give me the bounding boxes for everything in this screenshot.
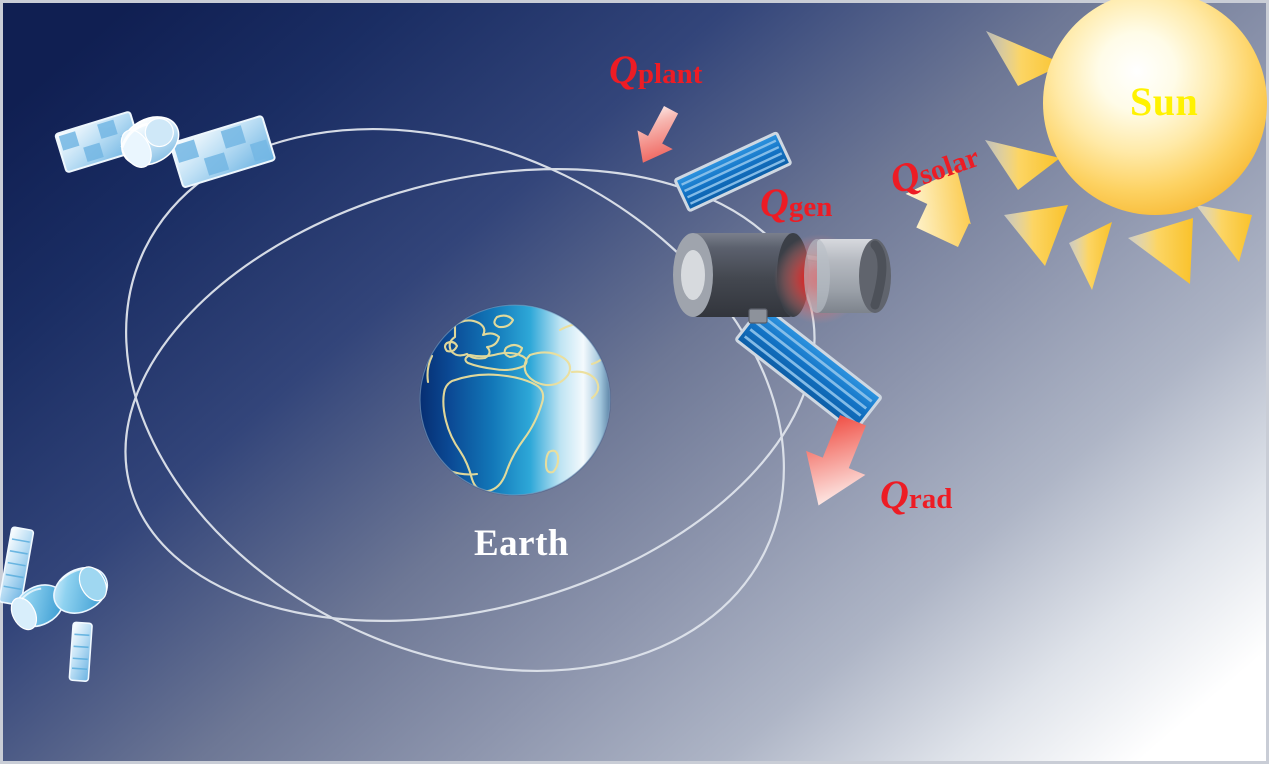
q-rad-subscript: rad bbox=[909, 483, 953, 515]
satellite-body-light bbox=[804, 239, 891, 313]
q-plant-subscript: plant bbox=[638, 58, 702, 90]
q-rad-symbol: Q bbox=[880, 472, 909, 517]
q-rad-label: Qrad bbox=[880, 475, 952, 515]
diagram-canvas: Qplant Qgen Qsolar Qrad Earth Sun bbox=[0, 0, 1269, 764]
q-plant-symbol: Q bbox=[609, 47, 638, 92]
q-plant-label: Qplant bbox=[609, 50, 702, 90]
q-gen-symbol: Q bbox=[760, 180, 789, 225]
diagram-artwork bbox=[0, 0, 1269, 764]
sun-label: Sun bbox=[1130, 82, 1198, 122]
q-gen-label: Qgen bbox=[760, 183, 832, 223]
earth-globe bbox=[419, 304, 611, 496]
earth-label: Earth bbox=[474, 525, 569, 562]
q-gen-subscript: gen bbox=[789, 191, 833, 223]
